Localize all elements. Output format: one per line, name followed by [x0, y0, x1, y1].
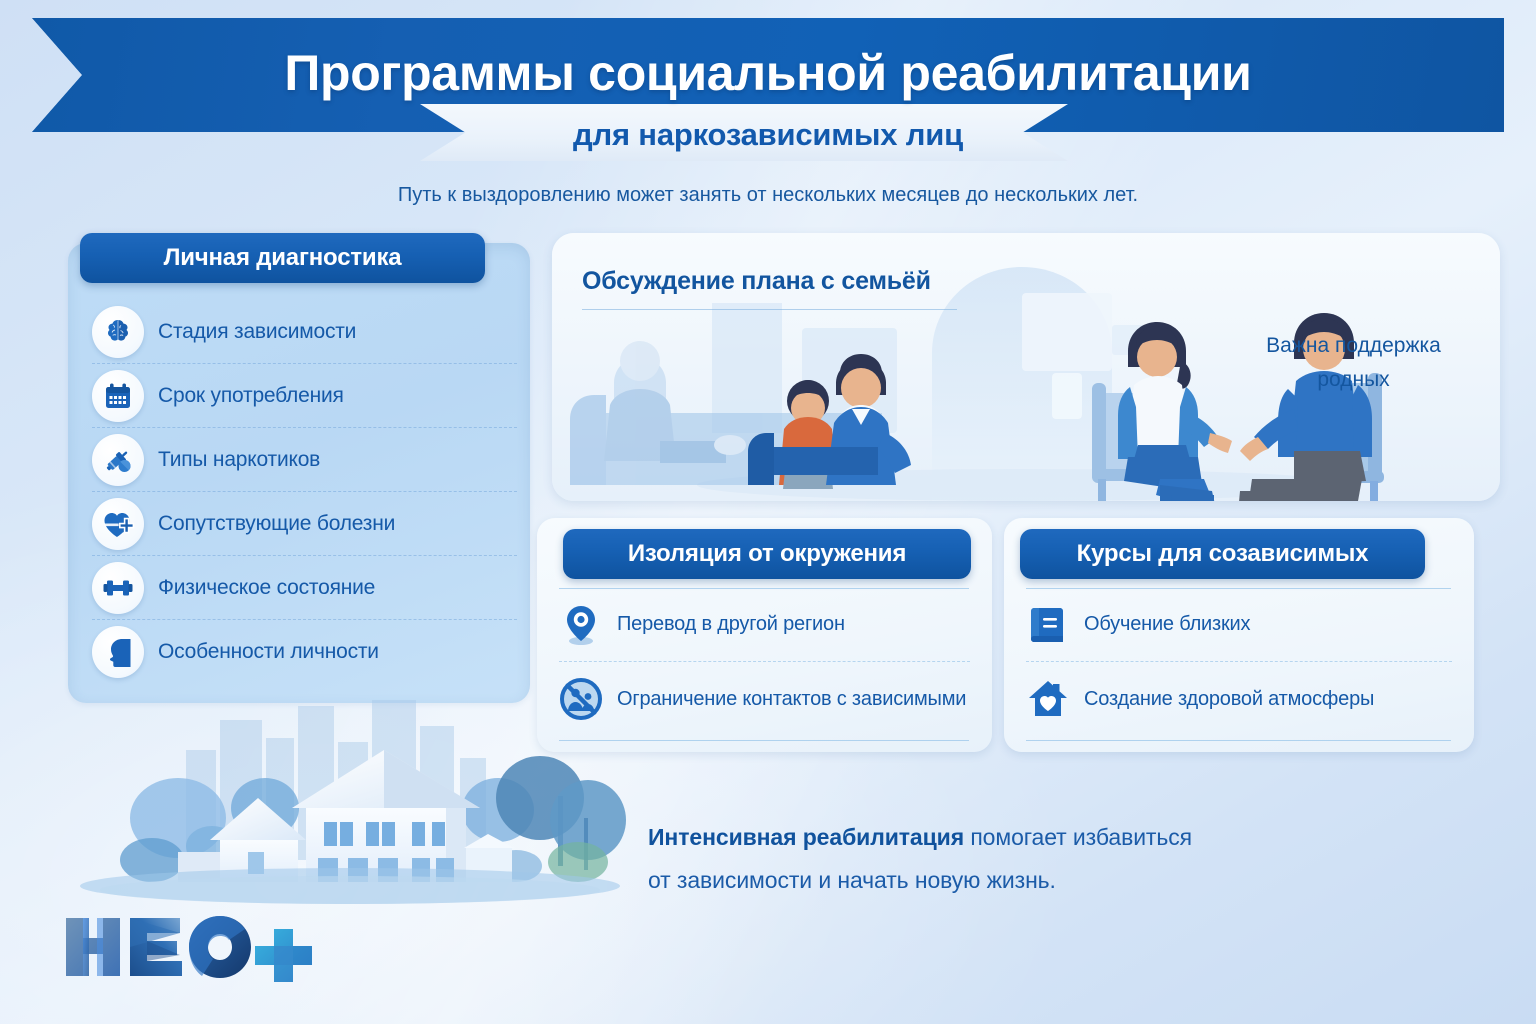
list-item[interactable]: Сопутствующие болезни: [92, 492, 517, 556]
list-item[interactable]: Создание здоровой атмосферы: [1026, 662, 1452, 736]
scene-title-rule: [582, 309, 957, 310]
isolation-heading: Изоляция от окружения: [563, 529, 971, 579]
page-title: Программы социальной реабилитации: [0, 44, 1536, 102]
footer-bold-lead: Интенсивная реабилитация: [648, 824, 964, 850]
list-item[interactable]: Перевод в другой регион: [559, 588, 970, 662]
list-item-label: Особенности личности: [158, 640, 379, 664]
courses-list: Обучение близких Создание здоровой атмос…: [1004, 588, 1474, 736]
tagline: Путь к выздоровлению может занять от нес…: [0, 184, 1536, 207]
list-item-label: Срок употребления: [158, 384, 344, 408]
syringe-pill-icon: [92, 434, 144, 486]
list-item-label: Ограничение контактов с зависимыми: [617, 688, 966, 711]
list-item-label: Типы наркотиков: [158, 448, 320, 472]
footer-rest-line1: помогает избавиться: [964, 824, 1192, 850]
courses-heading: Курсы для созависимых: [1020, 529, 1425, 579]
location-pin-icon: [559, 603, 603, 647]
logo-neo-plus-icon: [62, 912, 322, 982]
list-item[interactable]: Срок употребления: [92, 364, 517, 428]
list-item-label: Физическое состояние: [158, 576, 375, 600]
footer-line2: от зависимости и начать новую жизнь.: [648, 859, 1368, 902]
family-discussion-panel: Обсуждение плана с семьёй Важна поддержк…: [552, 233, 1500, 501]
page-subtitle: для наркозависимых лиц: [0, 117, 1536, 153]
list-item-label: Обучение близких: [1084, 613, 1250, 636]
dumbbell-icon: [92, 562, 144, 614]
rehab-center-illustration: [60, 690, 640, 920]
list-item-label: Сопутствующие болезни: [158, 512, 395, 536]
list-item[interactable]: Обучение близких: [1026, 588, 1452, 662]
diagnostics-list: Стадия зависимости Срок употребления: [92, 300, 517, 684]
heart-cross-icon: [92, 498, 144, 550]
list-item-label: Перевод в другой регион: [617, 613, 845, 636]
footer-message: Интенсивная реабилитация помогает избави…: [648, 816, 1368, 901]
header-banner: Программы социальной реабилитации для на…: [0, 18, 1536, 138]
scene-title: Обсуждение плана с семьёй: [582, 267, 931, 296]
diagnostics-heading: Личная диагностика: [80, 233, 485, 283]
logo[interactable]: [62, 912, 322, 982]
list-item[interactable]: Типы наркотиков: [92, 428, 517, 492]
list-item[interactable]: Стадия зависимости: [92, 300, 517, 364]
book-icon: [1026, 603, 1070, 647]
brain-icon: [92, 306, 144, 358]
house-heart-icon: [1026, 677, 1070, 721]
calendar-icon: [92, 370, 144, 422]
scene-note: Важна поддержка родных: [1241, 329, 1466, 396]
list-item-label: Создание здоровой атмосферы: [1084, 688, 1374, 711]
list-item[interactable]: Особенности личности: [92, 620, 517, 684]
courses-rule-bottom: [1026, 740, 1451, 741]
list-item[interactable]: Физическое состояние: [92, 556, 517, 620]
list-item-label: Стадия зависимости: [158, 320, 356, 344]
head-profile-icon: [92, 626, 144, 678]
